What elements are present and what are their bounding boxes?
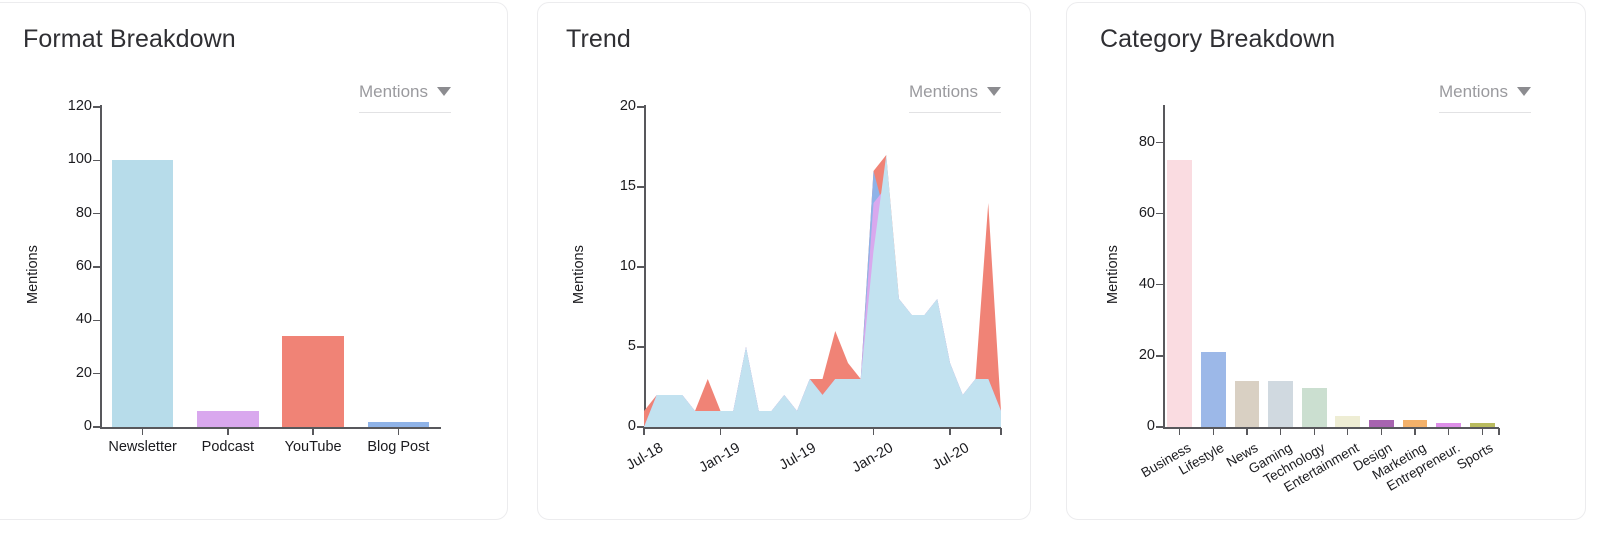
y-axis-line (100, 105, 102, 429)
y-axis-tick-label: 20 (1115, 347, 1155, 363)
x-axis-tick (1280, 428, 1281, 435)
area-chart-trend: Mentions 05101520Jul-18Jan-19Jul-19Jan-2… (538, 3, 1032, 521)
bar (368, 422, 429, 427)
y-axis-tick (93, 320, 100, 321)
y-axis-tick-label: 60 (48, 258, 92, 274)
y-axis-title: Mentions (1105, 224, 1121, 304)
x-axis-tick (1246, 428, 1247, 435)
x-axis-tick (873, 428, 874, 435)
y-axis-tick-label: 100 (48, 151, 92, 167)
y-axis-title: Mentions (25, 224, 41, 304)
x-axis-tick-label: Blog Post (328, 439, 468, 455)
x-axis-tick (643, 428, 644, 435)
bar (1369, 420, 1394, 427)
bar (282, 336, 343, 427)
x-axis-tick (1498, 428, 1499, 435)
x-axis-tick (1179, 428, 1180, 435)
bar (1470, 423, 1495, 427)
y-axis-tick-label: 80 (1115, 134, 1155, 150)
x-axis-tick (1347, 428, 1348, 435)
x-axis-tick (949, 428, 950, 435)
y-axis-tick-label: 0 (48, 418, 92, 434)
bar (1167, 160, 1192, 427)
x-axis-tick (312, 428, 313, 435)
x-axis-tick (1381, 428, 1382, 435)
x-axis-line (100, 427, 441, 429)
y-axis-tick-label: 40 (48, 311, 92, 327)
chart-card-trend: Trend Mentions Mentions 05101520Jul-18Ja… (537, 2, 1031, 520)
y-axis-tick-label: 120 (48, 98, 92, 114)
x-axis-tick (1213, 428, 1214, 435)
bar (1436, 423, 1461, 427)
x-axis-tick (398, 428, 399, 435)
y-axis-tick-label: 40 (1115, 276, 1155, 292)
bar (1302, 388, 1327, 427)
x-axis-tick (720, 428, 721, 435)
x-axis-tick (1482, 428, 1483, 435)
x-axis-tick (1000, 428, 1001, 435)
y-axis-line (1163, 105, 1165, 429)
x-axis-tick (796, 428, 797, 435)
y-axis-tick (93, 106, 100, 107)
bar-chart-category-breakdown: Mentions 020406080BusinessLifestyleNewsG… (1067, 3, 1587, 521)
bar (1268, 381, 1293, 427)
x-axis-tick (1414, 428, 1415, 435)
y-axis-tick (1156, 142, 1163, 143)
y-axis-tick (1156, 284, 1163, 285)
bar (112, 160, 173, 427)
y-axis-tick-label: 80 (48, 205, 92, 221)
chart-card-format-breakdown: Format Breakdown Mentions Mentions 02040… (0, 2, 508, 520)
y-axis-tick-label: 20 (48, 365, 92, 381)
x-axis-tick (1314, 428, 1315, 435)
y-axis-tick (1156, 355, 1163, 356)
y-axis-tick (1156, 426, 1163, 427)
bar (1235, 381, 1260, 427)
y-axis-tick (93, 160, 100, 161)
x-axis-tick (142, 428, 143, 435)
dashboard-root: Format Breakdown Mentions Mentions 02040… (0, 0, 1600, 540)
y-axis-tick (93, 213, 100, 214)
y-axis-tick (93, 373, 100, 374)
bar (1335, 416, 1360, 427)
bar (1403, 420, 1428, 427)
y-axis-tick (93, 266, 100, 267)
bar (197, 411, 258, 427)
bar-chart-format-breakdown: Mentions 020406080100120NewsletterPodcas… (0, 3, 509, 521)
x-axis-tick (227, 428, 228, 435)
y-axis-tick (93, 426, 100, 427)
y-axis-tick (1156, 213, 1163, 214)
chart-card-category-breakdown: Category Breakdown Mentions Mentions 020… (1066, 2, 1586, 520)
x-axis-tick (1448, 428, 1449, 435)
y-axis-tick-label: 0 (1115, 418, 1155, 434)
bar (1201, 352, 1226, 427)
y-axis-tick-label: 60 (1115, 205, 1155, 221)
